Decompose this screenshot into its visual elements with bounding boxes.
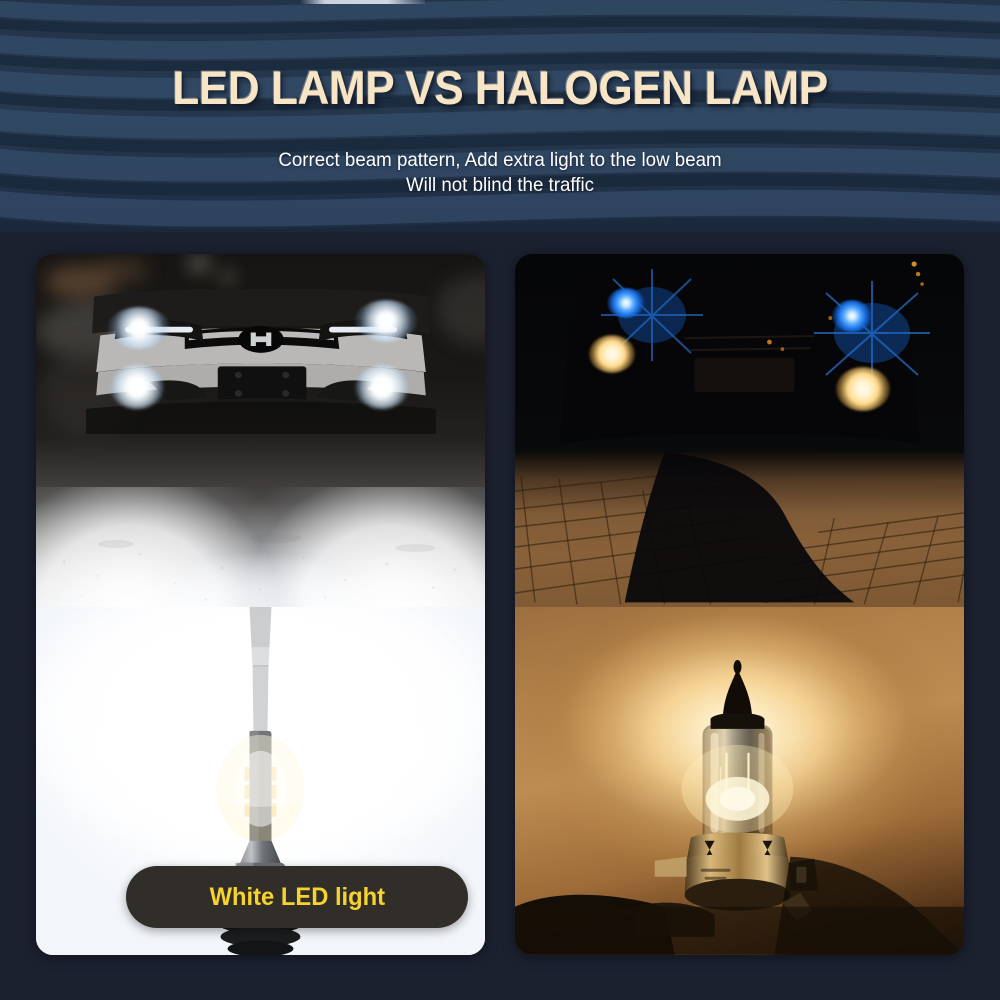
halogen-headlight-photo — [515, 254, 964, 607]
subtitle-line-1: Correct beam pattern, Add extra light to… — [278, 149, 721, 171]
led-comparison-panel[interactable]: White LED light — [36, 254, 485, 955]
yellow-halogen-bulb — [515, 607, 964, 955]
asphalt-texture — [36, 459, 485, 607]
page-title: LED LAMP VS HALOGEN LAMP — [30, 62, 970, 114]
page-subtitle: Correct beam pattern, Add extra light to… — [20, 148, 980, 198]
top-edge-light-sliver — [300, 0, 425, 4]
blue-led-accent-left — [607, 288, 645, 318]
led-label-pill[interactable]: White LED light — [126, 866, 468, 928]
led-headlight-photo — [36, 254, 485, 607]
halogen-comparison-panel[interactable]: yellow halogen lamp — [515, 254, 964, 955]
yellow-fog-light-right — [836, 367, 890, 411]
promo-banner-page: LED LAMP VS HALOGEN LAMP Correct beam pa… — [0, 0, 1000, 1000]
led-label-text: White LED light — [209, 883, 384, 912]
halogen-bulb-photo — [515, 607, 964, 955]
subtitle-line-2: Will not blind the traffic — [20, 173, 980, 198]
blue-led-accent-right — [832, 300, 872, 332]
